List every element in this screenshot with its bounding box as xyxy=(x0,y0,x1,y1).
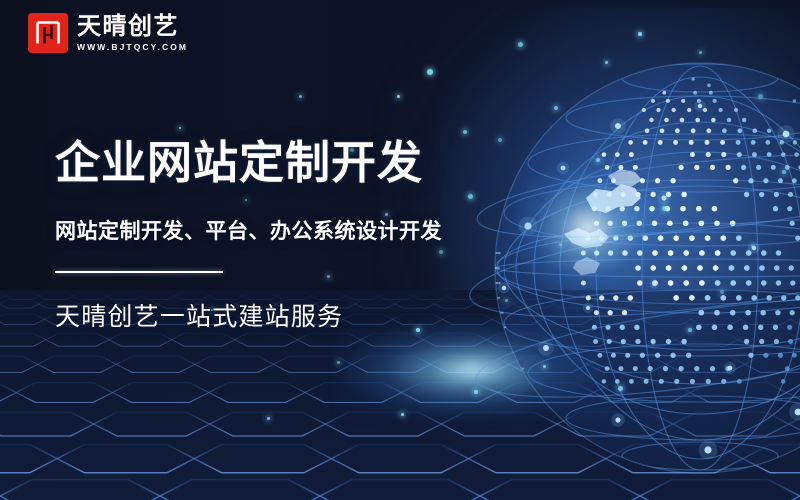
logo-website-url: WWW.BJTQCY.COM xyxy=(77,42,188,52)
page-title: 企业网站定制开发 xyxy=(55,138,575,188)
tqcy-square-logo-icon xyxy=(28,13,68,53)
hero-divider xyxy=(55,271,223,273)
hero-copy-block: 企业网站定制开发 网站定制开发、平台、办公系统设计开发 天晴创艺一站式建站服务 xyxy=(55,138,575,333)
hero-tagline: 天晴创艺一站式建站服务 xyxy=(55,297,575,333)
logo-company-name: 天晴创艺 xyxy=(77,14,188,39)
logo-text-block: 天晴创艺 WWW.BJTQCY.COM xyxy=(77,14,188,52)
hero-subtitle: 网站定制开发、平台、办公系统设计开发 xyxy=(55,215,575,245)
hero-banner: 天晴创艺 WWW.BJTQCY.COM 企业网站定制开发 网站定制开发、平台、办… xyxy=(0,0,800,500)
brand-logo[interactable]: 天晴创艺 WWW.BJTQCY.COM xyxy=(28,13,188,53)
